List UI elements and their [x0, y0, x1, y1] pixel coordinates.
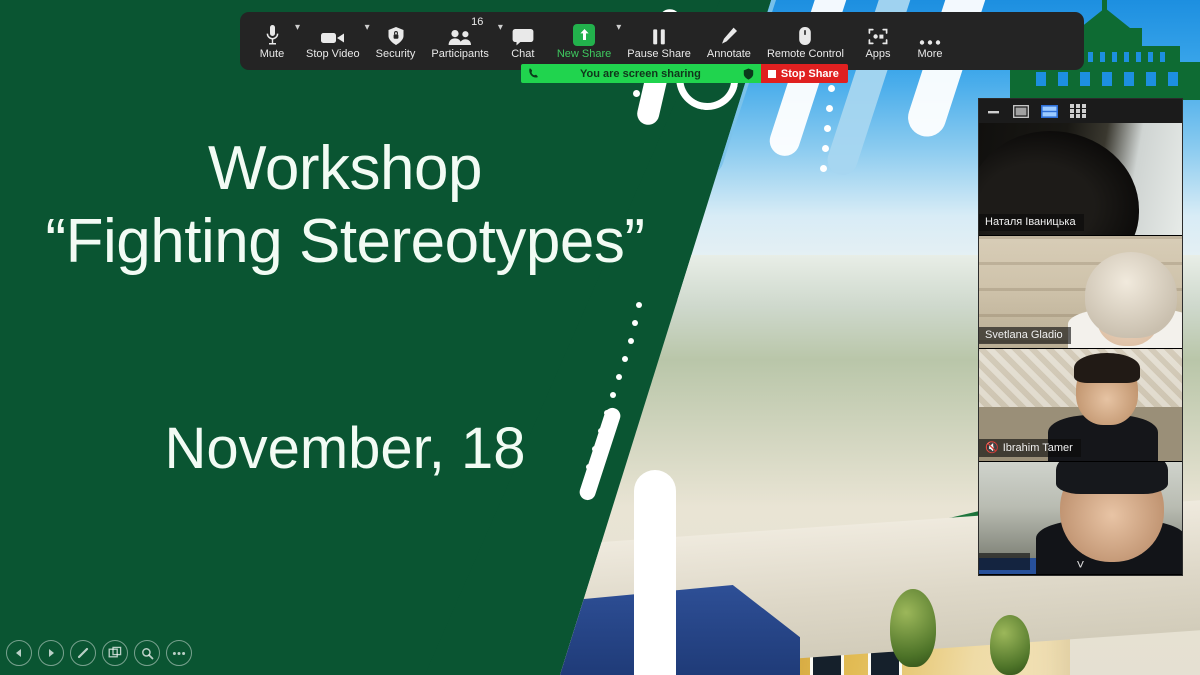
participant-name: Ibrahim Tamer — [1003, 442, 1073, 454]
decorative-bar — [634, 470, 676, 675]
annotate-button[interactable]: Annotate — [699, 12, 759, 70]
shield-icon — [387, 22, 405, 46]
stop-video-label: Stop Video — [306, 48, 360, 60]
slide-title-line1: Workshop — [208, 134, 482, 203]
participant-name-badge: 🔇 Ibrahim Tamer — [979, 439, 1081, 457]
gallery-view-icon[interactable] — [1070, 104, 1086, 118]
chat-label: Chat — [511, 48, 534, 60]
stop-share-label: Stop Share — [781, 68, 839, 80]
participants-button[interactable]: 16 Participants ▾ — [423, 12, 496, 70]
strip-view-icon[interactable] — [1041, 105, 1058, 118]
video-tile[interactable]: ˅ — [979, 462, 1182, 575]
zoom-video-panel: Наталя Іваницька Svetlana Gladio 🔇 Ibrah… — [978, 98, 1183, 576]
sharing-status: You are screen sharing — [521, 64, 761, 83]
mute-label: Mute — [260, 48, 284, 60]
all-slides-button[interactable] — [102, 640, 128, 666]
new-share-label: New Share — [557, 48, 611, 60]
video-tile[interactable]: Svetlana Gladio — [979, 236, 1182, 349]
powerpoint-slideshow-controls — [6, 637, 192, 669]
slide-title-line2: “Fighting Stereotypes” — [0, 205, 690, 278]
pencil-icon — [719, 22, 739, 46]
remote-control-label: Remote Control — [767, 48, 844, 60]
apps-label: Apps — [865, 48, 890, 60]
stop-video-button[interactable]: Stop Video ▾ — [298, 12, 368, 70]
active-speaker-view-icon[interactable] — [1013, 105, 1029, 118]
slide-date: November, 18 — [0, 415, 690, 482]
participants-label: Participants — [431, 48, 488, 60]
ellipsis-icon — [919, 22, 941, 46]
screen-sharing-banner: You are screen sharing Stop Share — [521, 64, 848, 83]
video-tile[interactable]: Наталя Іваницька — [979, 123, 1182, 236]
minimize-icon[interactable] — [987, 105, 1001, 117]
muted-microphone-icon: 🔇 — [985, 441, 999, 454]
participants-icon — [447, 22, 473, 46]
participant-name: Svetlana Gladio — [985, 329, 1063, 341]
pause-share-button[interactable]: Pause Share — [619, 12, 699, 70]
more-button[interactable]: More — [904, 12, 956, 70]
participants-count: 16 — [471, 16, 483, 28]
participant-hair — [1056, 462, 1168, 494]
slide-title: Workshop “Fighting Stereotypes” — [0, 132, 690, 278]
participant-hair — [1074, 353, 1140, 383]
participant-name-badge: Наталя Іваницька — [979, 214, 1084, 231]
more-options-button[interactable] — [166, 640, 192, 666]
mouse-icon — [798, 22, 812, 46]
apps-button[interactable]: Apps — [852, 12, 904, 70]
mute-button[interactable]: Mute ▾ — [246, 12, 298, 70]
stop-square-icon — [768, 70, 776, 78]
security-label: Security — [376, 48, 416, 60]
street-tree — [990, 615, 1030, 675]
annotate-label: Annotate — [707, 48, 751, 60]
video-tile[interactable]: 🔇 Ibrahim Tamer — [979, 349, 1182, 462]
share-screen-icon — [573, 22, 595, 46]
remote-control-button[interactable]: Remote Control — [759, 12, 852, 70]
participant-name-badge: Svetlana Gladio — [979, 327, 1071, 344]
next-slide-button[interactable] — [38, 640, 64, 666]
more-label: More — [917, 48, 942, 60]
pause-share-label: Pause Share — [627, 48, 691, 60]
chat-button[interactable]: Chat — [497, 12, 549, 70]
street-tree — [890, 589, 936, 667]
stop-share-button[interactable]: Stop Share — [761, 64, 848, 83]
chevron-down-icon[interactable]: ˅ — [979, 556, 1182, 572]
apps-icon — [868, 22, 888, 46]
pen-tool-button[interactable] — [70, 640, 96, 666]
security-button[interactable]: Security — [368, 12, 424, 70]
participant-hair — [1085, 252, 1177, 338]
pause-icon — [650, 22, 668, 46]
shield-icon[interactable] — [743, 68, 754, 80]
participant-name: Наталя Іваницька — [985, 216, 1076, 228]
phone-icon — [528, 68, 538, 79]
video-panel-header — [979, 99, 1182, 123]
zoom-button[interactable] — [134, 640, 160, 666]
chat-bubble-icon — [512, 22, 534, 46]
previous-slide-button[interactable] — [6, 640, 32, 666]
microphone-icon — [265, 22, 280, 46]
zoom-meeting-toolbar: Mute ▾ Stop Video ▾ Security — [240, 12, 1084, 70]
new-share-button[interactable]: New Share ▾ — [549, 12, 619, 70]
video-camera-icon — [321, 22, 345, 46]
sharing-status-text: You are screen sharing — [580, 68, 701, 80]
